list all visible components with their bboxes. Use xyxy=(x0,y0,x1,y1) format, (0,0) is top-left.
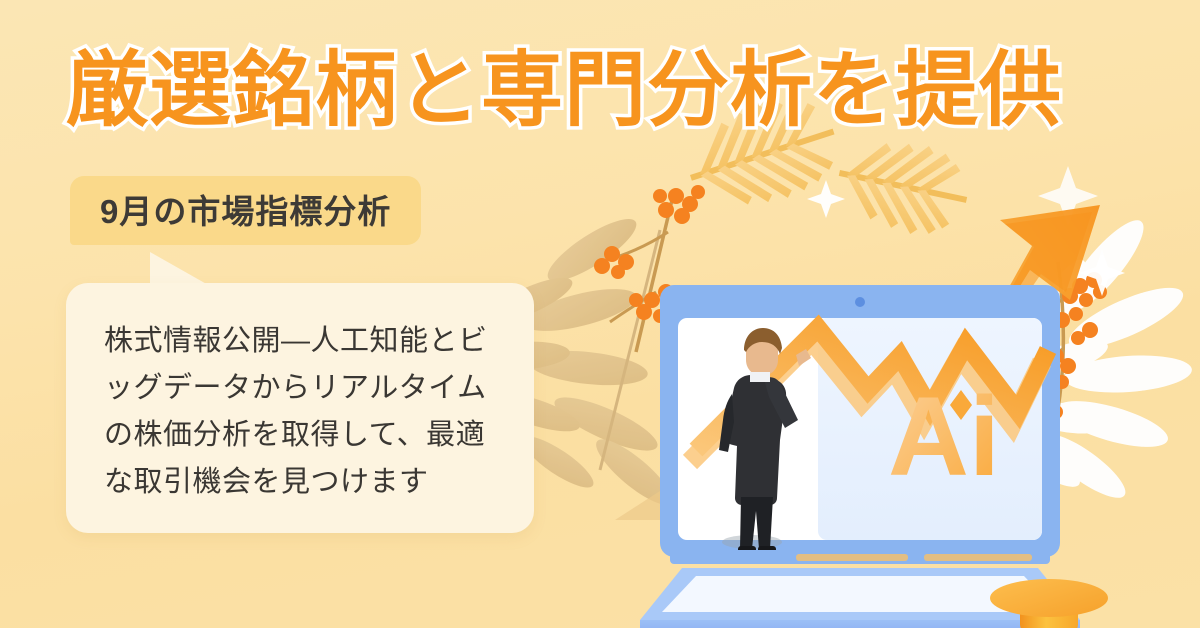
shirt-collar xyxy=(750,372,770,382)
promo-banner: 厳選銘柄と専門分析を提供 9月の市場指標分析 株式情報公開—人工知能とビッグデー… xyxy=(0,0,1200,628)
ai-logo: Ai xyxy=(888,374,1000,499)
laptop-illustration: Ai xyxy=(600,150,1200,628)
ai-logo-text: Ai xyxy=(888,374,1000,499)
status-badge: 9月の市場指標分析 xyxy=(70,176,421,245)
illustration-svg: Ai xyxy=(600,150,1200,628)
base-front xyxy=(640,620,1080,628)
bubble-tail xyxy=(150,252,210,286)
page-title: 厳選銘柄と専門分析を提供 xyxy=(66,48,1146,135)
laptop-lid: Ai xyxy=(660,285,1060,557)
description-text: 株式情報公開—人工知能とビッグデータからリアルタイムの株価分析を取得して、最適な… xyxy=(104,318,504,506)
webcam-icon xyxy=(855,297,865,307)
